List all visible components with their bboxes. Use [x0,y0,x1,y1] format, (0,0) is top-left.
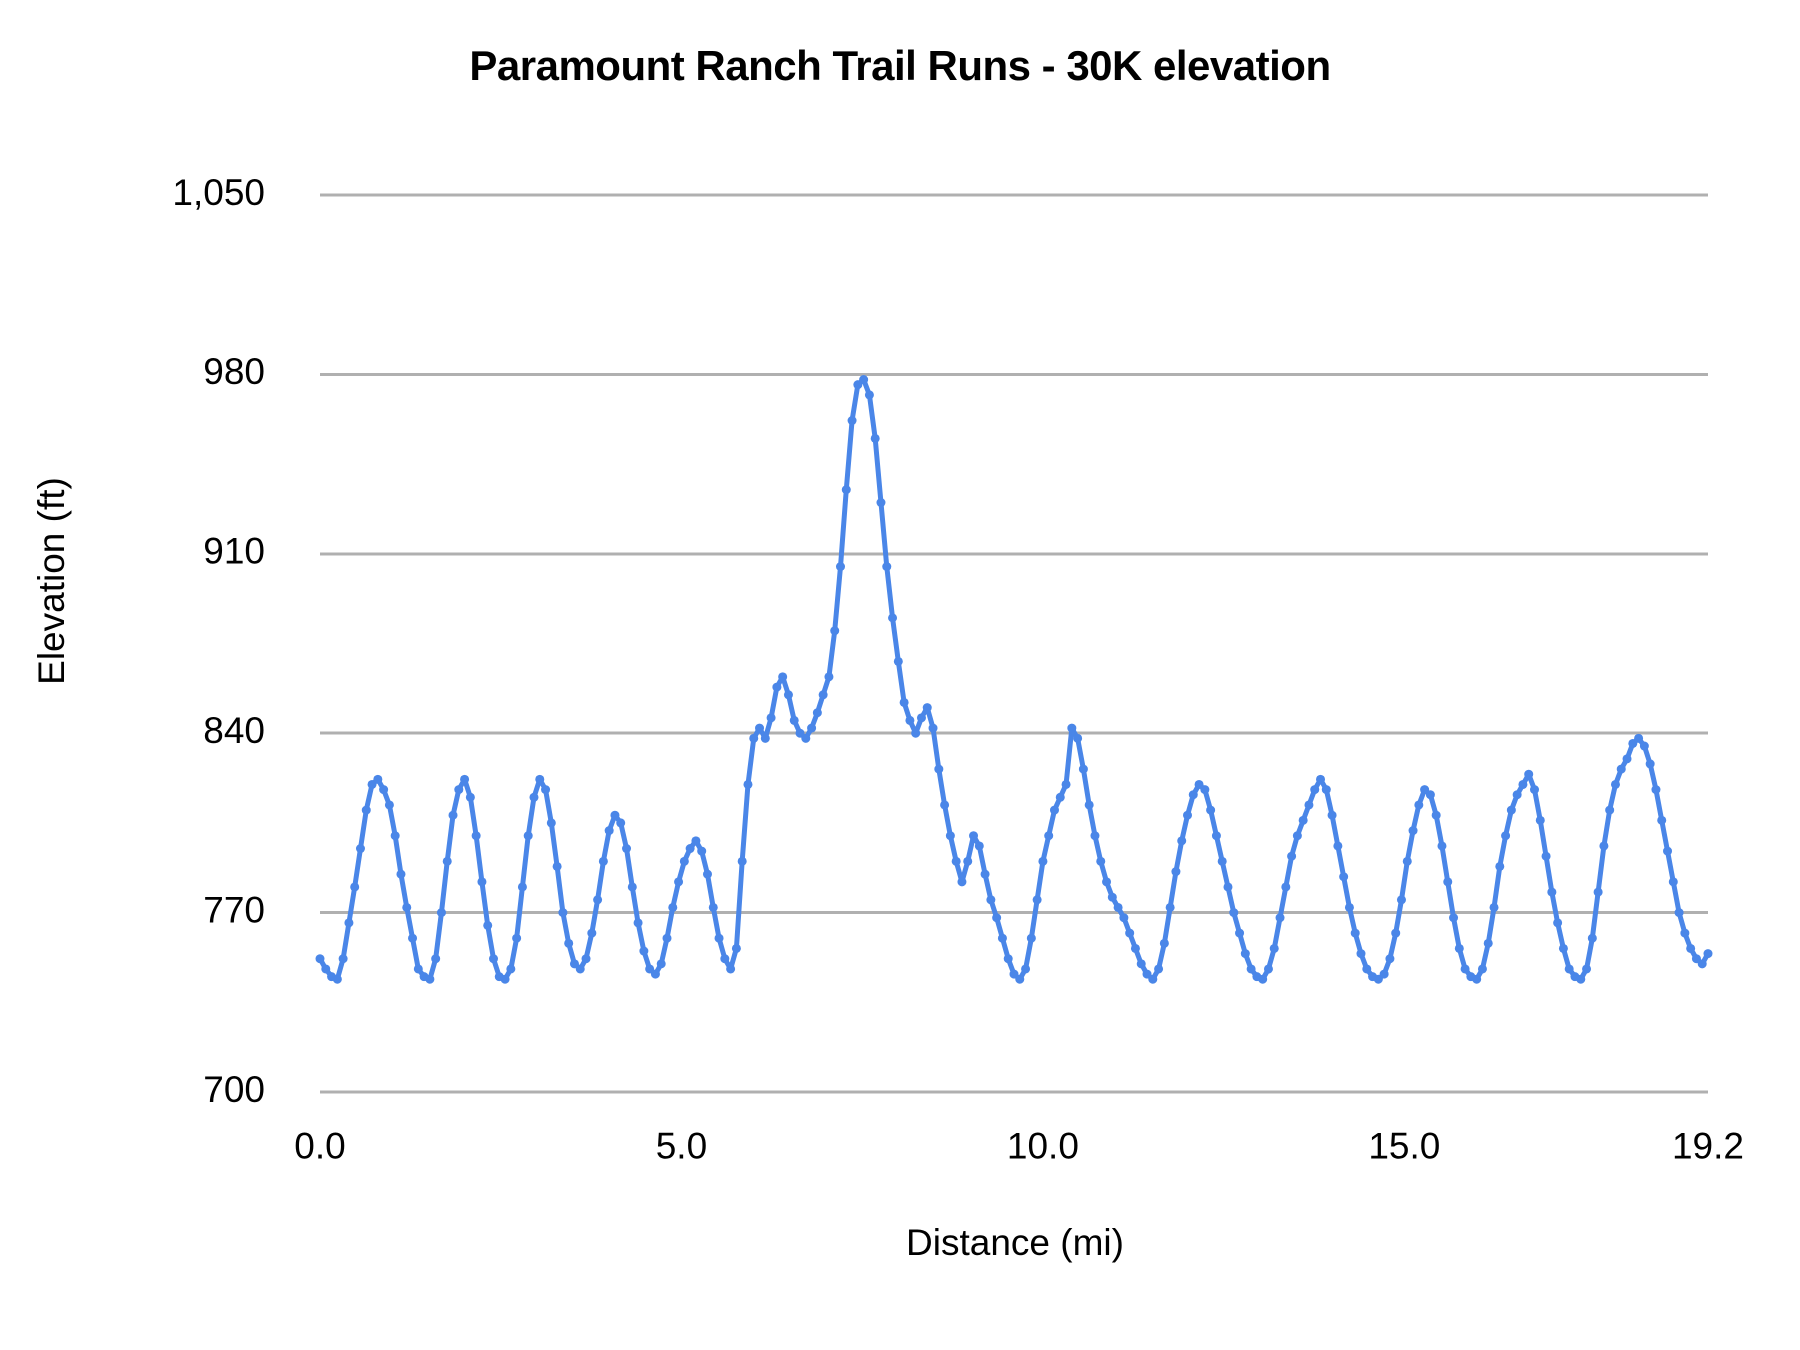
data-point[interactable] [524,831,533,840]
data-point[interactable] [1079,765,1088,774]
data-point[interactable] [894,657,903,666]
data-point[interactable] [587,929,596,938]
data-point[interactable] [1131,944,1140,953]
data-point[interactable] [1154,964,1163,973]
data-point[interactable] [1056,793,1065,802]
data-point[interactable] [529,793,538,802]
data-point[interactable] [489,954,498,963]
line-chart-plot: 7007708409109801,050 0.05.010.015.019.2 [0,0,1800,1350]
data-point[interactable] [1027,934,1036,943]
data-point[interactable] [1015,975,1024,984]
data-point[interactable] [1148,975,1157,984]
data-point[interactable] [1524,770,1533,779]
data-point[interactable] [1472,975,1481,984]
data-point[interactable] [1223,882,1232,891]
data-point[interactable] [1281,882,1290,891]
data-point[interactable] [506,964,515,973]
data-point[interactable] [697,847,706,856]
data-point[interactable] [1380,970,1389,979]
data-point[interactable] [905,716,914,725]
data-point[interactable] [755,724,764,733]
data-point[interactable] [1461,964,1470,973]
data-point[interactable] [1102,877,1111,886]
data-point[interactable] [1437,841,1446,850]
data-point[interactable] [865,390,874,399]
data-point[interactable] [1096,857,1105,866]
data-point[interactable] [1137,959,1146,968]
data-point[interactable] [1328,811,1337,820]
data-point[interactable] [830,626,839,635]
data-point[interactable] [501,975,510,984]
data-point[interactable] [1299,816,1308,825]
data-point[interactable] [564,939,573,948]
data-point[interactable] [824,672,833,681]
data-point[interactable] [1397,895,1406,904]
data-point[interactable] [888,613,897,622]
data-point[interactable] [813,708,822,717]
data-point[interactable] [639,947,648,956]
data-point[interactable] [1617,765,1626,774]
x-axis-tick-label: 5.0 [656,1125,707,1166]
data-point[interactable] [946,831,955,840]
data-point[interactable] [1050,806,1059,815]
data-point[interactable] [986,895,995,904]
data-point[interactable] [686,844,695,853]
data-point[interactable] [807,724,816,733]
data-point[interactable] [1680,929,1689,938]
data-point[interactable] [1316,775,1325,784]
data-point[interactable] [929,724,938,733]
data-point[interactable] [1062,780,1071,789]
data-point[interactable] [593,895,602,904]
data-point[interactable] [1414,800,1423,809]
data-point[interactable] [761,734,770,743]
data-point[interactable] [321,964,330,973]
data-point[interactable] [1357,949,1366,958]
data-point[interactable] [1501,831,1510,840]
data-point[interactable] [871,434,880,443]
data-point[interactable] [1264,964,1273,973]
data-point[interactable] [1507,806,1516,815]
data-point[interactable] [547,818,556,827]
data-point[interactable] [356,844,365,853]
data-point[interactable] [1241,949,1250,958]
data-point[interactable] [414,964,423,973]
data-point[interactable] [981,870,990,879]
data-point[interactable] [709,903,718,912]
data-point[interactable] [1403,857,1412,866]
data-point[interactable] [1536,816,1545,825]
data-point[interactable] [691,836,700,845]
data-point[interactable] [969,831,978,840]
data-point[interactable] [720,954,729,963]
data-point[interactable] [460,775,469,784]
gridlines [320,195,1708,1092]
data-point[interactable] [541,785,550,794]
data-point[interactable] [535,775,544,784]
x-axis-tick-label: 15.0 [1368,1125,1440,1166]
data-point[interactable] [1542,852,1551,861]
data-point[interactable] [350,882,359,891]
data-point[interactable] [1310,785,1319,794]
data-point[interactable] [1611,780,1620,789]
data-point[interactable] [1490,903,1499,912]
data-point[interactable] [715,934,724,943]
data-point[interactable] [778,672,787,681]
data-point[interactable] [663,934,672,943]
y-axis-tick-label: 910 [203,531,265,572]
data-point[interactable] [385,800,394,809]
data-point[interactable] [1495,862,1504,871]
data-point[interactable] [616,818,625,827]
data-point[interactable] [1177,836,1186,845]
data-point[interactable] [1085,800,1094,809]
data-point[interactable] [703,870,712,879]
data-point[interactable] [992,913,1001,922]
data-point[interactable] [1021,964,1030,973]
data-point[interactable] [1235,929,1244,938]
data-point[interactable] [1200,785,1209,794]
data-point[interactable] [963,857,972,866]
data-point[interactable] [425,975,434,984]
data-point[interactable] [784,690,793,699]
data-point[interactable] [1258,975,1267,984]
data-point[interactable] [1588,934,1597,943]
data-point[interactable] [819,690,828,699]
data-point[interactable] [1518,780,1527,789]
data-point[interactable] [344,918,353,927]
data-point[interactable] [1385,954,1394,963]
y-axis-tick-labels: 7007708409109801,050 [172,172,265,1110]
data-point[interactable] [1073,734,1082,743]
data-point[interactable] [743,780,752,789]
data-point[interactable] [1038,857,1047,866]
data-point[interactable] [790,716,799,725]
data-point[interactable] [1114,903,1123,912]
data-point[interactable] [1478,964,1487,973]
data-point[interactable] [408,934,417,943]
data-point[interactable] [316,954,325,963]
data-point[interactable] [1166,903,1175,912]
data-point[interactable] [1565,964,1574,973]
y-axis-tick-label: 1,050 [172,172,265,213]
data-point[interactable] [391,831,400,840]
data-point[interactable] [379,785,388,794]
data-point[interactable] [1623,754,1632,763]
data-point[interactable] [610,811,619,820]
data-point[interactable] [1322,785,1331,794]
data-point[interactable] [1686,944,1695,953]
y-axis-tick-label: 840 [203,710,265,751]
data-point[interactable] [1287,852,1296,861]
data-point[interactable] [472,831,481,840]
data-point[interactable] [1044,831,1053,840]
data-point[interactable] [437,908,446,917]
data-point[interactable] [934,765,943,774]
y-axis-tick-label: 770 [203,889,265,930]
data-point[interactable] [749,734,758,743]
data-point[interactable] [1212,831,1221,840]
data-point[interactable] [1108,893,1117,902]
data-point[interactable] [900,698,909,707]
data-point[interactable] [553,862,562,871]
x-axis-tick-label: 0.0 [294,1125,345,1166]
data-point[interactable] [848,416,857,425]
data-point[interactable] [657,959,666,968]
x-axis-tick-label: 19.2 [1672,1125,1744,1166]
data-point[interactable] [1582,964,1591,973]
data-point[interactable] [1218,857,1227,866]
data-point[interactable] [483,921,492,930]
data-point[interactable] [1530,785,1539,794]
data-point[interactable] [1067,724,1076,733]
data-point[interactable] [454,785,463,794]
data-point[interactable] [1553,918,1562,927]
data-point[interactable] [1004,954,1013,963]
data-point[interactable] [1426,790,1435,799]
data-point[interactable] [1119,913,1128,922]
data-point[interactable] [1160,939,1169,948]
data-point[interactable] [1513,790,1522,799]
data-point[interactable] [628,882,637,891]
data-point[interactable] [1362,964,1371,973]
data-point[interactable] [1351,929,1360,938]
x-axis-tick-label: 10.0 [1007,1125,1079,1166]
data-point[interactable] [1634,734,1643,743]
data-point[interactable] [1484,939,1493,948]
data-point[interactable] [726,964,735,973]
data-point[interactable] [1443,877,1452,886]
data-point[interactable] [1651,785,1660,794]
data-point[interactable] [1599,841,1608,850]
data-point[interactable] [1391,929,1400,938]
data-point[interactable] [518,882,527,891]
data-point[interactable] [801,734,810,743]
x-axis-tick-labels: 0.05.010.015.019.2 [294,1125,1744,1166]
data-point[interactable] [668,903,677,912]
data-point[interactable] [1594,888,1603,897]
data-point[interactable] [680,857,689,866]
data-point[interactable] [512,934,521,943]
data-point[interactable] [651,970,660,979]
data-point[interactable] [576,964,585,973]
data-point[interactable] [1090,831,1099,840]
data-point[interactable] [940,800,949,809]
data-point[interactable] [1675,908,1684,917]
data-point[interactable] [957,877,966,886]
data-point[interactable] [443,857,452,866]
data-point[interactable] [836,562,845,571]
data-point[interactable] [449,811,458,820]
data-point[interactable] [466,793,475,802]
data-point[interactable] [1345,903,1354,912]
data-point[interactable] [622,844,631,853]
data-point[interactable] [917,713,926,722]
data-point[interactable] [1304,800,1313,809]
chart-container: Paramount Ranch Trail Runs - 30K elevati… [0,0,1800,1350]
data-point[interactable] [1640,742,1649,751]
data-point[interactable] [1189,790,1198,799]
data-point[interactable] [842,485,851,494]
data-point[interactable] [1276,913,1285,922]
data-point[interactable] [859,375,868,384]
data-point[interactable] [1646,759,1655,768]
data-point[interactable] [1669,877,1678,886]
data-point[interactable] [876,498,885,507]
data-point[interactable] [1229,908,1238,917]
data-point[interactable] [333,975,342,984]
data-point[interactable] [1033,895,1042,904]
data-point[interactable] [923,703,932,712]
data-point[interactable] [582,954,591,963]
data-point[interactable] [1409,826,1418,835]
data-point[interactable] [1547,888,1556,897]
data-point[interactable] [1663,847,1672,856]
data-point[interactable] [738,857,747,866]
data-point[interactable] [1293,831,1302,840]
data-point[interactable] [1449,913,1458,922]
data-point[interactable] [362,806,371,815]
data-point[interactable] [431,954,440,963]
data-point[interactable] [1339,872,1348,881]
data-point[interactable] [1183,811,1192,820]
data-point[interactable] [402,903,411,912]
data-point[interactable] [674,877,683,886]
y-axis-tick-label: 700 [203,1069,265,1110]
data-point[interactable] [882,562,891,571]
data-point[interactable] [772,683,781,692]
data-point[interactable] [396,870,405,879]
data-point[interactable] [1432,811,1441,820]
data-point[interactable] [634,918,643,927]
data-point[interactable] [1657,816,1666,825]
data-point[interactable] [1125,929,1134,938]
data-point[interactable] [477,877,486,886]
data-point[interactable] [1605,806,1614,815]
data-point[interactable] [339,954,348,963]
data-point[interactable] [558,908,567,917]
data-point[interactable] [1270,944,1279,953]
data-point[interactable] [1206,806,1215,815]
data-point[interactable] [605,826,614,835]
data-point[interactable] [975,841,984,850]
data-point[interactable] [1704,949,1713,958]
data-point[interactable] [1455,944,1464,953]
data-point[interactable] [1333,841,1342,850]
data-point[interactable] [998,934,1007,943]
data-point[interactable] [1559,944,1568,953]
data-point[interactable] [599,857,608,866]
data-point[interactable] [1171,867,1180,876]
data-point[interactable] [911,729,920,738]
data-point[interactable] [1576,975,1585,984]
y-axis-tick-label: 980 [203,351,265,392]
data-point[interactable] [952,857,961,866]
data-point[interactable] [767,713,776,722]
series-line[interactable] [320,380,1708,980]
data-point[interactable] [373,775,382,784]
data-point[interactable] [1698,959,1707,968]
data-series-elevation[interactable] [316,375,1713,984]
data-point[interactable] [1247,964,1256,973]
data-point[interactable] [732,944,741,953]
